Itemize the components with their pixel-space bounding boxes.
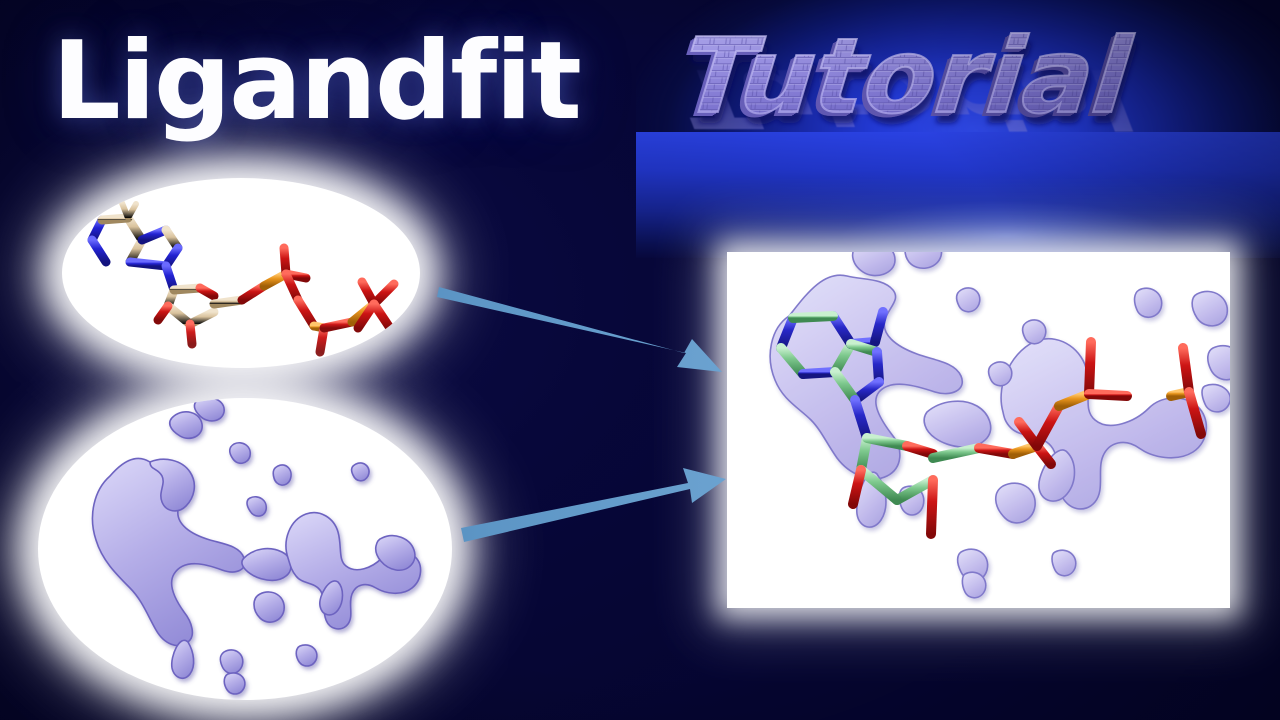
slide-canvas: Tutorial: [0, 0, 1280, 720]
fitted-ligand-in-density: [727, 252, 1230, 608]
ligand-card-inner: [62, 178, 420, 368]
result-panel: [727, 252, 1230, 608]
electron-density-isosurface: [38, 398, 452, 700]
page-title: Ligandfit: [52, 28, 580, 136]
density-card-inner: [38, 398, 452, 700]
result-panel-inner: [727, 252, 1230, 608]
ligand-card: [62, 178, 420, 368]
density-card: [38, 398, 452, 700]
atp-stick-model: [62, 178, 420, 368]
